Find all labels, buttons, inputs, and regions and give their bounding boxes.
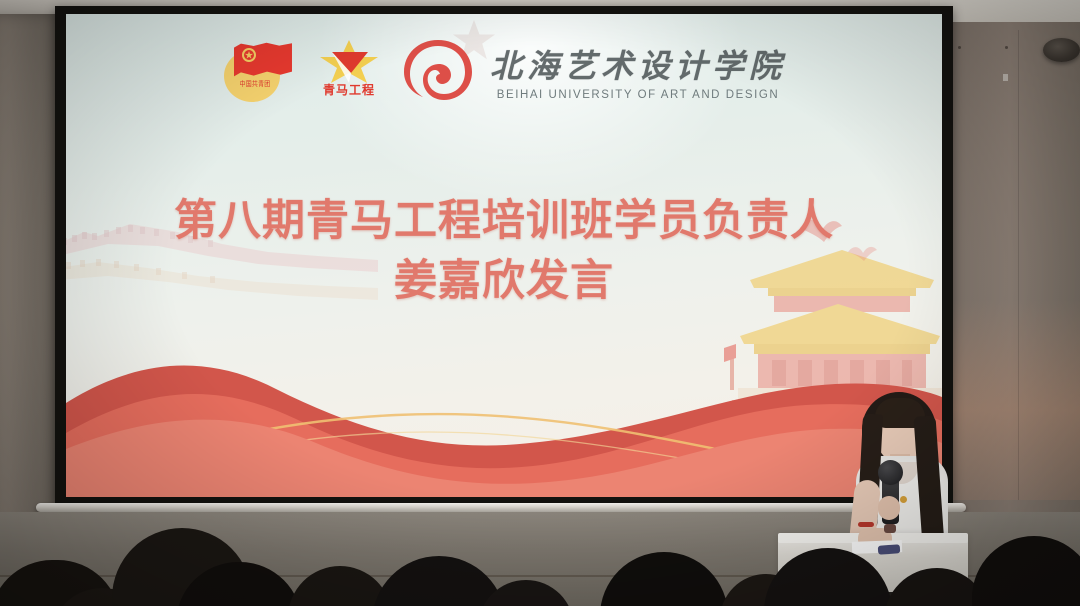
presentation-slide: 中国共青团 青马工程 北海艺术设计学院 [66, 14, 942, 497]
wall-seam [1018, 30, 1019, 500]
slide-logo-row: 中国共青团 青马工程 北海艺术设计学院 [66, 30, 942, 112]
university-logo-text: 北海艺术设计学院 BEIHAI UNIVERSITY OF ART AND DE… [490, 38, 786, 104]
wave-front-icon [66, 387, 942, 497]
projector-screen: 中国共青团 青马工程 北海艺术设计学院 [66, 14, 942, 497]
wall-dot [1005, 46, 1008, 49]
wall-tick [1003, 74, 1008, 81]
qingma-project-logo-icon: 青马工程 [312, 39, 386, 103]
swirl-shape [402, 38, 474, 104]
beihai-university-swirl-icon [402, 38, 474, 104]
speaker-wrist-accessory [884, 524, 896, 533]
speaker-badge-pin [900, 496, 907, 503]
ceiling-speaker-icon [1043, 38, 1080, 62]
podium-blue-object [878, 544, 901, 555]
presentation-scene: 中国共青团 青马工程 北海艺术设计学院 [0, 0, 1080, 606]
slide-title-line1: 第八期青马工程培训班学员负责人 [174, 198, 834, 245]
communist-youth-league-emblem-icon: 中国共青团 [222, 40, 296, 102]
league-star-icon [245, 51, 253, 59]
speaker-wristband [858, 522, 874, 527]
wall-warm-light [952, 300, 1080, 500]
slide-title: 第八期青马工程培训班学员负责人 姜嘉欣发言 [66, 192, 942, 312]
speaker-hand [878, 496, 900, 520]
university-name-cn: 北海艺术设计学院 [490, 41, 786, 87]
qingma-star-icon [318, 39, 380, 83]
screen-weight-bar [36, 503, 966, 512]
league-label: 中国共青团 [236, 78, 273, 91]
wall-dot [958, 46, 961, 49]
university-name-en: BEIHAI UNIVERSITY OF ART AND DESIGN [497, 89, 779, 102]
qingma-label: 青马工程 [312, 81, 386, 98]
microphone-head-icon [878, 460, 903, 485]
